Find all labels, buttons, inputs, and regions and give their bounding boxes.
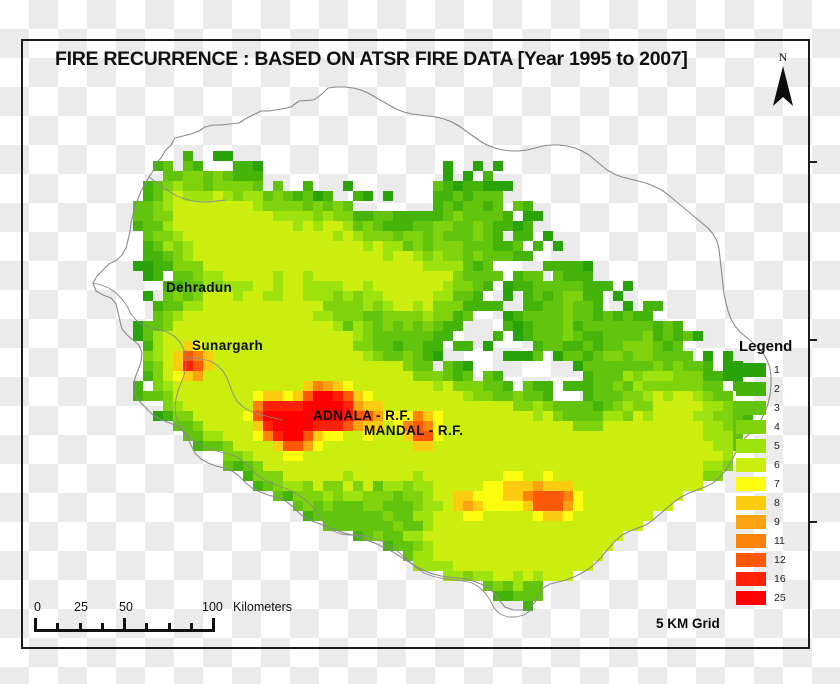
legend-swatch-2	[736, 382, 766, 396]
legend-row-12: 12	[736, 550, 792, 569]
legend-swatch-12	[736, 553, 766, 567]
legend-label-3: 3	[774, 402, 780, 414]
legend-label-25: 25	[774, 592, 786, 604]
scale-tick-c	[101, 623, 104, 632]
legend-row-16: 16	[736, 569, 792, 588]
legend-label-9: 9	[774, 516, 780, 528]
legend-row-5: 5	[736, 436, 792, 455]
legend-row-7: 7	[736, 474, 792, 493]
legend-label-7: 7	[774, 478, 780, 490]
legend-swatch-25	[736, 591, 766, 605]
scale-tick-b	[79, 623, 82, 632]
legend-title: Legend	[739, 338, 792, 355]
legend-swatch-8	[736, 496, 766, 510]
frame-tick-1	[808, 161, 817, 163]
scale-tick-label-25: 25	[74, 600, 88, 614]
legend-swatch-3	[736, 401, 766, 415]
scale-tick-label-50: 50	[119, 600, 133, 614]
legend-row-4: 4	[736, 417, 792, 436]
place-label-adnala-rf: ADNALA - R.F.	[313, 408, 411, 423]
legend-row-1: 1	[736, 360, 792, 379]
legend-swatch-11	[736, 534, 766, 548]
scale-tick-0	[34, 618, 37, 632]
legend-label-16: 16	[774, 573, 786, 585]
legend-label-12: 12	[774, 554, 786, 566]
place-label-sunargarh: Sunargarh	[192, 338, 263, 353]
legend-row-9: 9	[736, 512, 792, 531]
scale-tick-d	[145, 623, 148, 632]
legend-swatch-1	[736, 363, 766, 377]
scale-bar: 0 25 50 100 Kilometers	[34, 600, 234, 632]
scale-bar-graphic	[34, 618, 234, 632]
legend-row-3: 3	[736, 398, 792, 417]
scale-bar-labels: 0 25 50 100 Kilometers	[34, 600, 234, 616]
legend-label-8: 8	[774, 497, 780, 509]
legend-label-6: 6	[774, 459, 780, 471]
place-label-mandal-rf: MANDAL - R.F.	[364, 423, 463, 438]
legend-row-25: 25	[736, 588, 792, 607]
legend-label-2: 2	[774, 383, 780, 395]
scale-tick-50	[123, 618, 126, 632]
scale-tick-100	[212, 618, 215, 632]
frame-tick-3	[808, 521, 817, 523]
legend-swatch-9	[736, 515, 766, 529]
legend-swatch-16	[736, 572, 766, 586]
scale-tick-label-0: 0	[34, 600, 41, 614]
legend-swatch-7	[736, 477, 766, 491]
legend-row-2: 2	[736, 379, 792, 398]
map-figure: FIRE RECURRENCE : BASED ON ATSR FIRE DAT…	[0, 0, 840, 684]
legend: Legend 12345678911121625	[736, 338, 792, 607]
scale-unit-label: Kilometers	[233, 600, 292, 614]
legend-swatch-6	[736, 458, 766, 472]
legend-label-5: 5	[774, 440, 780, 452]
legend-label-4: 4	[774, 421, 780, 433]
legend-rows: 12345678911121625	[736, 360, 792, 607]
legend-row-6: 6	[736, 455, 792, 474]
legend-swatch-5	[736, 439, 766, 453]
scale-tick-e	[168, 623, 171, 632]
legend-label-11: 11	[774, 535, 785, 547]
legend-label-1: 1	[774, 364, 780, 376]
place-label-dehradun: Dehradun	[166, 280, 232, 295]
scale-tick-label-100: 100	[202, 600, 223, 614]
legend-row-8: 8	[736, 493, 792, 512]
legend-swatch-4	[736, 420, 766, 434]
scale-tick-a	[56, 623, 59, 632]
map-frame	[21, 39, 810, 649]
scale-tick-f	[190, 623, 193, 632]
legend-row-11: 11	[736, 531, 792, 550]
frame-tick-2	[808, 339, 817, 341]
grid-note: 5 KM Grid	[656, 616, 720, 631]
